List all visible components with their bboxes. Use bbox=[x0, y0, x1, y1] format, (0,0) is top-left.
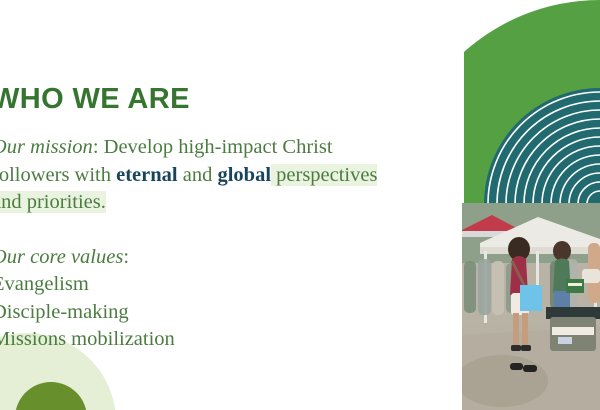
list-item: Missions mobilization bbox=[0, 326, 392, 353]
campus-outreach-photo bbox=[462, 203, 600, 410]
arc-svg bbox=[464, 0, 600, 204]
mission-statement: Our mission: Develop high-impact Christ … bbox=[0, 134, 392, 216]
core-values-lead-label: Our core values bbox=[0, 246, 123, 268]
slide-text-block: WHO WE ARE Our mission: Develop high-imp… bbox=[0, 84, 392, 353]
core-values-list: Evangelism Disciple-making Missions mobi… bbox=[0, 271, 392, 353]
mission-colon: : bbox=[93, 136, 104, 158]
list-item: Evangelism bbox=[0, 271, 392, 298]
decorative-arc-graphic bbox=[464, 0, 600, 204]
list-item: Disciple-making bbox=[0, 299, 392, 326]
core-values-colon: : bbox=[123, 246, 129, 268]
core-values-heading: Our core values: bbox=[0, 244, 392, 271]
mission-lead-label: Our mission bbox=[0, 136, 93, 158]
mission-accent-eternal: eternal bbox=[116, 164, 177, 186]
mission-accent-global: global bbox=[217, 164, 271, 186]
photo-svg bbox=[462, 203, 600, 410]
page-title: WHO WE ARE bbox=[0, 84, 392, 114]
slide-canvas: WHO WE ARE Our mission: Develop high-imp… bbox=[0, 0, 600, 410]
mission-text-between: and bbox=[178, 164, 218, 186]
